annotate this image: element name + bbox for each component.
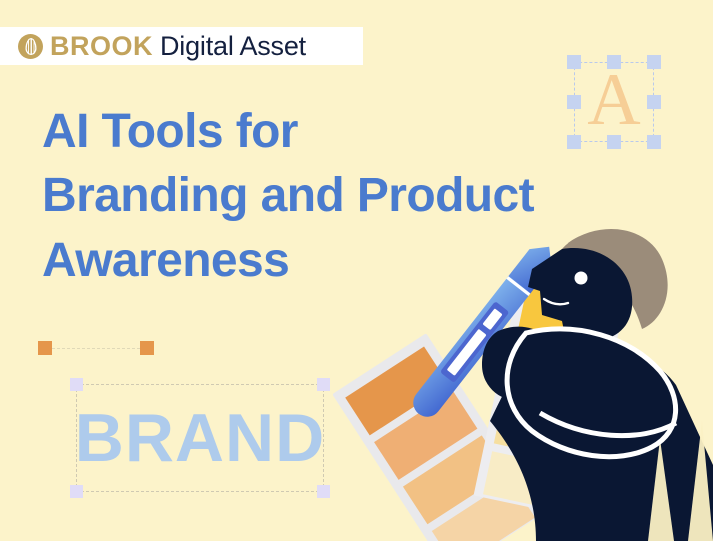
measure-marker-right[interactable] [140, 341, 154, 355]
headline-line-2: Branding and Product [42, 164, 682, 228]
measure-marker-pair[interactable] [38, 341, 154, 355]
resize-handle-top-right[interactable] [317, 378, 330, 391]
letter-a-selection-object[interactable]: A [567, 55, 661, 149]
resize-handle-bottom-left[interactable] [567, 135, 581, 149]
designer-illustration [330, 225, 713, 541]
measure-dashed-line [52, 348, 140, 349]
resize-handle-bottom-right[interactable] [317, 485, 330, 498]
logo-bar: BROOK Digital Asset [0, 27, 363, 65]
resize-handle-middle-left[interactable] [567, 95, 581, 109]
resize-handle-top-right[interactable] [647, 55, 661, 69]
brook-droplet-mark-icon [18, 34, 43, 59]
resize-handle-bottom-right[interactable] [647, 135, 661, 149]
logo-brand-name: BROOK [50, 33, 153, 60]
figure-eye [575, 272, 588, 285]
resize-handle-bottom-left[interactable] [70, 485, 83, 498]
poster-canvas: BROOK Digital Asset AI Tools for Brandin… [0, 0, 713, 541]
resize-handle-top-left[interactable] [70, 378, 83, 391]
resize-handle-top-left[interactable] [567, 55, 581, 69]
brand-text-selection-object[interactable]: BRAND [70, 378, 330, 498]
resize-handle-top-center[interactable] [607, 55, 621, 69]
resize-handle-bottom-center[interactable] [607, 135, 621, 149]
brand-text-label: BRAND [70, 378, 330, 498]
measure-marker-left[interactable] [38, 341, 52, 355]
resize-handle-middle-right[interactable] [647, 95, 661, 109]
logo-tagline: Digital Asset [160, 33, 306, 60]
